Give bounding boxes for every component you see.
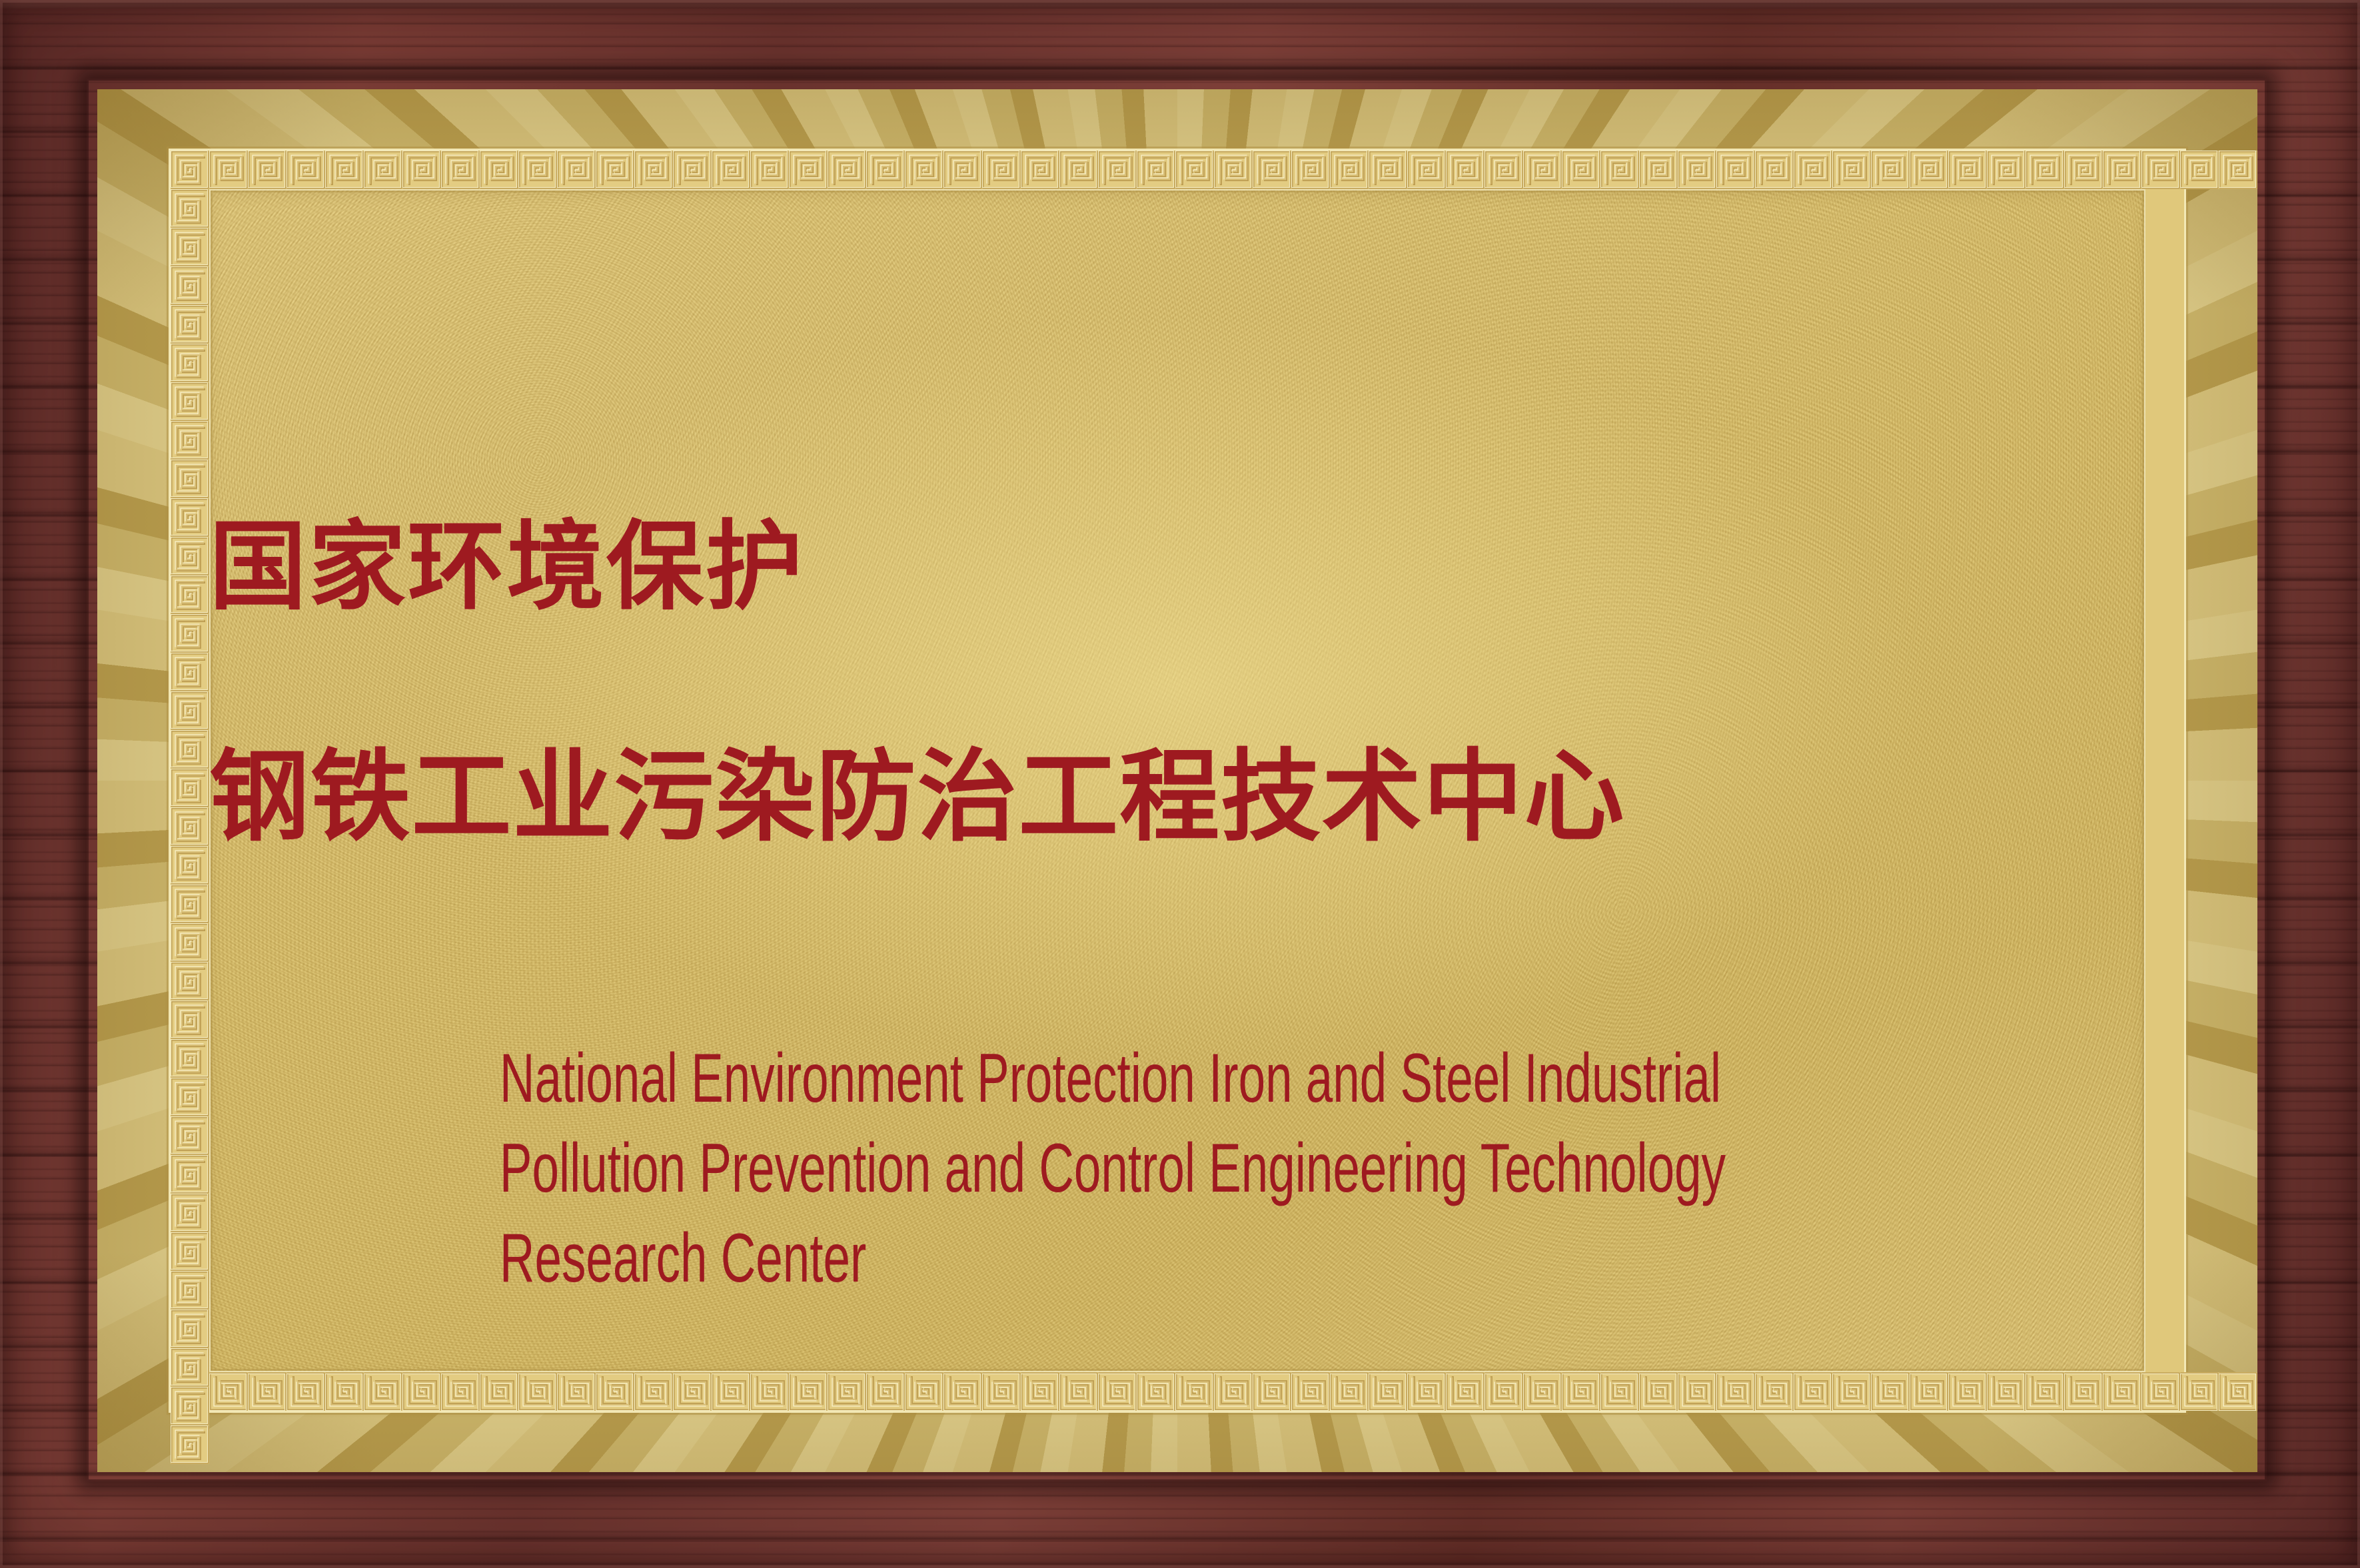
greek-key-glyph xyxy=(2180,151,2219,189)
greek-key-glyph xyxy=(171,1387,209,1425)
greek-key-glyph xyxy=(171,421,209,460)
greek-key-glyph xyxy=(171,576,209,614)
greek-key-glyph xyxy=(171,923,209,962)
greek-key-glyph xyxy=(171,653,209,691)
greek-key-glyph xyxy=(171,537,209,576)
inner-panel: 国家环境保护 钢铁工业污染防治工程技术中心 National Environme… xyxy=(171,151,2184,1411)
title-chinese-line-2: 钢铁工业污染防治工程技术中心 xyxy=(209,747,2145,847)
gold-plate: 国家环境保护 钢铁工业污染防治工程技术中心 National Environme… xyxy=(97,89,2257,1472)
subtitle-english-line-3: Research Center xyxy=(500,1214,1855,1304)
greek-key-glyph xyxy=(171,730,209,769)
greek-key-glyph xyxy=(171,614,209,653)
greek-key-glyph xyxy=(171,1078,209,1116)
greek-key-glyph xyxy=(171,189,209,228)
greek-key-glyph xyxy=(171,1425,209,1464)
greek-key-glyph xyxy=(171,885,209,923)
greek-key-glyph xyxy=(171,1194,209,1232)
greek-key-glyph xyxy=(171,266,209,305)
greek-key-glyph xyxy=(2219,1372,2257,1411)
subtitle-english-line-2: Pollution Prevention and Control Enginee… xyxy=(500,1124,1855,1214)
greek-key-glyph xyxy=(171,1271,209,1310)
greek-key-glyph xyxy=(171,769,209,807)
greek-key-glyph xyxy=(171,962,209,1000)
greek-key-glyph xyxy=(171,305,209,344)
title-chinese-line-1: 国家环境保护 xyxy=(209,518,2145,615)
greek-key-glyph xyxy=(171,460,209,498)
inscription-field: 国家环境保护 钢铁工业污染防治工程技术中心 National Environme… xyxy=(209,189,2145,1372)
greek-key-glyph xyxy=(171,1310,209,1348)
greek-key-glyph xyxy=(171,691,209,730)
greek-key-glyph xyxy=(171,151,209,189)
subtitle-english-line-1: National Environment Protection Iron and… xyxy=(500,1034,1855,1124)
greek-key-glyph xyxy=(171,498,209,537)
subtitle-english: National Environment Protection Iron and… xyxy=(209,1034,2145,1304)
greek-key-glyph xyxy=(171,1155,209,1194)
greek-key-glyph xyxy=(171,1116,209,1155)
greek-key-glyph xyxy=(2180,1372,2219,1411)
greek-key-glyph xyxy=(171,1000,209,1039)
plaque-image: 国家环境保护 钢铁工业污染防治工程技术中心 National Environme… xyxy=(0,0,2360,1568)
greek-key-glyph xyxy=(171,1232,209,1271)
greek-key-glyph xyxy=(2219,151,2257,189)
greek-key-glyph xyxy=(171,807,209,846)
greek-key-glyph xyxy=(171,1039,209,1078)
wood-frame-top-highlight xyxy=(0,0,2360,9)
greek-key-glyph xyxy=(171,382,209,421)
greek-key-glyph xyxy=(171,1348,209,1387)
greek-key-glyph xyxy=(171,228,209,266)
greek-key-glyph xyxy=(171,846,209,885)
greek-key-glyph xyxy=(171,344,209,382)
